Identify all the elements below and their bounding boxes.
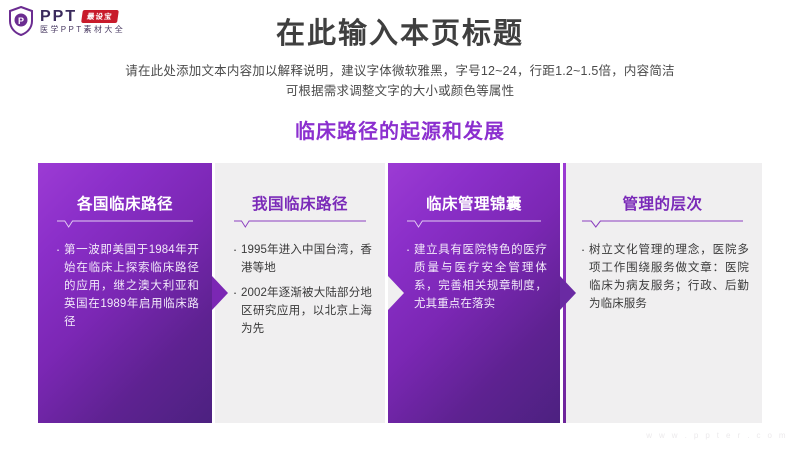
watermark: w w w . p p t e r . c o m <box>646 431 788 440</box>
card-bullets: · 树立文化管理的理念，医院多项工作围绕服务做文章：医院临床为病友服务；行政、后… <box>577 241 749 320</box>
title-divider-icon <box>234 219 366 229</box>
subtitle-line-2: 可根据需求调整文字的大小或颜色等属性 <box>0 81 800 101</box>
subtitle-line-1: 请在此处添加文本内容加以解释说明，建议字体微软雅黑，字号12~24，行距1.2~… <box>0 61 800 81</box>
bullet-text: 第一波即美国于1984年开始在临床上探索临床路径的应用，继之澳大利亚和英国在19… <box>64 241 199 331</box>
card-row: 各国临床路径 · 第一波即美国于1984年开始在临床上探索临床路径的应用，继之澳… <box>38 163 762 423</box>
title-divider-icon <box>582 219 743 229</box>
card-title: 各国临床路径 <box>38 192 212 214</box>
bullet-icon: · <box>577 241 589 259</box>
list-item: · 建立具有医院特色的医疗质量与医疗安全管理体系，完善相关规章制度，尤其重点在落… <box>402 241 547 313</box>
card-各国临床路径[interactable]: 各国临床路径 · 第一波即美国于1984年开始在临床上探索临床路径的应用，继之澳… <box>38 163 212 423</box>
bullet-text: 1995年进入中国台湾，香港等地 <box>241 241 372 277</box>
bullet-text: 建立具有医院特色的医疗质量与医疗安全管理体系，完善相关规章制度，尤其重点在落实 <box>414 241 547 313</box>
chevron-right-icon <box>212 276 229 310</box>
chevron-notch-icon <box>388 276 405 310</box>
title-divider-icon <box>57 219 193 229</box>
bullet-icon: · <box>229 284 241 302</box>
bullet-icon: · <box>52 241 64 259</box>
list-item: · 树立文化管理的理念，医院多项工作围绕服务做文章：医院临床为病友服务；行政、后… <box>577 241 749 313</box>
list-item: · 第一波即美国于1984年开始在临床上探索临床路径的应用，继之澳大利亚和英国在… <box>52 241 199 331</box>
chevron-right-icon <box>560 276 577 310</box>
bullet-icon: · <box>402 241 414 259</box>
card-临床管理锦囊[interactable]: 临床管理锦囊 · 建立具有医院特色的医疗质量与医疗安全管理体系，完善相关规章制度… <box>388 163 560 423</box>
card-title: 管理的层次 <box>563 192 762 214</box>
list-item: · 1995年进入中国台湾，香港等地 <box>229 241 372 277</box>
card-title: 我国临床路径 <box>215 192 385 214</box>
page-title: 在此输入本页标题 <box>0 10 800 52</box>
card-bullets: · 建立具有医院特色的医疗质量与医疗安全管理体系，完善相关规章制度，尤其重点在落… <box>402 241 547 320</box>
card-title: 临床管理锦囊 <box>388 192 560 214</box>
card-bullets: · 第一波即美国于1984年开始在临床上探索临床路径的应用，继之澳大利亚和英国在… <box>52 241 199 338</box>
page-subtitle: 请在此处添加文本内容加以解释说明，建议字体微软雅黑，字号12~24，行距1.2~… <box>0 61 800 101</box>
bullet-text: 2002年逐渐被大陆部分地区研究应用，以北京上海为先 <box>241 284 372 338</box>
bullet-text: 树立文化管理的理念，医院多项工作围绕服务做文章：医院临床为病友服务；行政、后勤为… <box>589 241 749 313</box>
card-我国临床路径[interactable]: 我国临床路径 · 1995年进入中国台湾，香港等地 · 2002年逐渐被大陆部分… <box>215 163 385 423</box>
section-title: 临床路径的起源和发展 <box>0 115 800 144</box>
card-管理的层次[interactable]: 管理的层次 · 树立文化管理的理念，医院多项工作围绕服务做文章：医院临床为病友服… <box>563 163 762 423</box>
list-item: · 2002年逐渐被大陆部分地区研究应用，以北京上海为先 <box>229 284 372 338</box>
bullet-icon: · <box>229 241 241 259</box>
card-bullets: · 1995年进入中国台湾，香港等地 · 2002年逐渐被大陆部分地区研究应用，… <box>229 241 372 345</box>
title-divider-icon <box>407 219 541 229</box>
